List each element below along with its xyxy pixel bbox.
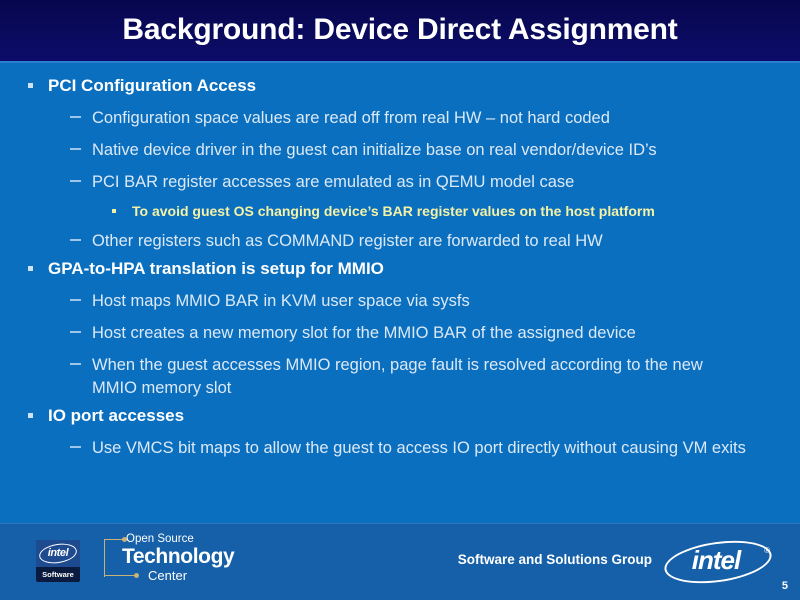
square-bullet-icon: [28, 404, 48, 428]
intel-wordmark: intel: [39, 544, 77, 563]
bullet-item-level-2: Host creates a new memory slot for the M…: [70, 322, 772, 345]
slide-body: PCI Configuration AccessConfiguration sp…: [0, 63, 800, 523]
slide: Background: Device Direct Assignment PCI…: [0, 0, 800, 600]
intel-wordmark: intel: [664, 542, 768, 578]
square-bullet-icon: [28, 74, 48, 98]
footer-divider: [0, 523, 800, 524]
bullet-text: Other registers such as COMMAND register…: [92, 230, 747, 253]
bullet-item-level-2: Host maps MMIO BAR in KVM user space via…: [70, 290, 772, 313]
dash-bullet-icon: [70, 230, 92, 253]
dash-bullet-icon: [70, 437, 92, 460]
bullet-item-level-2: When the guest accesses MMIO region, pag…: [70, 354, 772, 400]
bullet-text: IO port accesses: [48, 404, 772, 428]
dash-bullet-icon: [70, 171, 92, 194]
otc-line-center: Center: [148, 568, 187, 583]
bullet-item-level-2: PCI BAR register accesses are emulated a…: [70, 171, 772, 194]
bullet-item-level-3: To avoid guest OS changing device’s BAR …: [112, 201, 772, 221]
bullet-text: PCI Configuration Access: [48, 74, 772, 98]
bullet-text: Host creates a new memory slot for the M…: [92, 322, 747, 345]
dash-bullet-icon: [70, 322, 92, 345]
intel-badge-sublabel: Software: [36, 567, 80, 582]
slide-title: Background: Device Direct Assignment: [0, 10, 800, 50]
software-and-solutions-group-label: Software and Solutions Group: [458, 552, 652, 567]
bullet-text: PCI BAR register accesses are emulated a…: [92, 171, 747, 194]
dash-bullet-icon: [70, 354, 92, 377]
intel-software-badge-logo: intel Software: [36, 540, 80, 582]
bullet-text: Native device driver in the guest can in…: [92, 139, 747, 162]
page-number: 5: [782, 580, 788, 592]
bullet-item-level-1: GPA-to-HPA translation is setup for MMIO: [28, 257, 772, 281]
bullet-text: Configuration space values are read off …: [92, 107, 747, 130]
intel-logo: intel ®: [664, 540, 772, 580]
registered-trademark-icon: ®: [764, 546, 770, 555]
dash-bullet-icon: [70, 107, 92, 130]
bullet-text: GPA-to-HPA translation is setup for MMIO: [48, 257, 772, 281]
intel-swirl-icon: intel: [36, 540, 80, 567]
bullet-item-level-2: Use VMCS bit maps to allow the guest to …: [70, 437, 772, 460]
bullet-item-level-1: IO port accesses: [28, 404, 772, 428]
square-bullet-icon: [112, 201, 132, 221]
bullet-text: When the guest accesses MMIO region, pag…: [92, 354, 747, 400]
bullet-item-level-2: Configuration space values are read off …: [70, 107, 772, 130]
bullet-item-level-2: Native device driver in the guest can in…: [70, 139, 772, 162]
dash-bullet-icon: [70, 290, 92, 313]
dash-bullet-icon: [70, 139, 92, 162]
bullet-text: Use VMCS bit maps to allow the guest to …: [92, 437, 747, 460]
otc-line-technology: Technology: [122, 545, 234, 569]
open-source-technology-center-logo: Open Source Technology Center: [100, 533, 230, 585]
bullet-item-level-1: PCI Configuration Access: [28, 74, 772, 98]
square-bullet-icon: [28, 257, 48, 281]
bullet-item-level-2: Other registers such as COMMAND register…: [70, 230, 772, 253]
title-bar: Background: Device Direct Assignment: [0, 0, 800, 63]
bullet-list: PCI Configuration AccessConfiguration sp…: [28, 70, 772, 460]
bullet-text: Host maps MMIO BAR in KVM user space via…: [92, 290, 747, 313]
bullet-text: To avoid guest OS changing device’s BAR …: [132, 201, 772, 221]
